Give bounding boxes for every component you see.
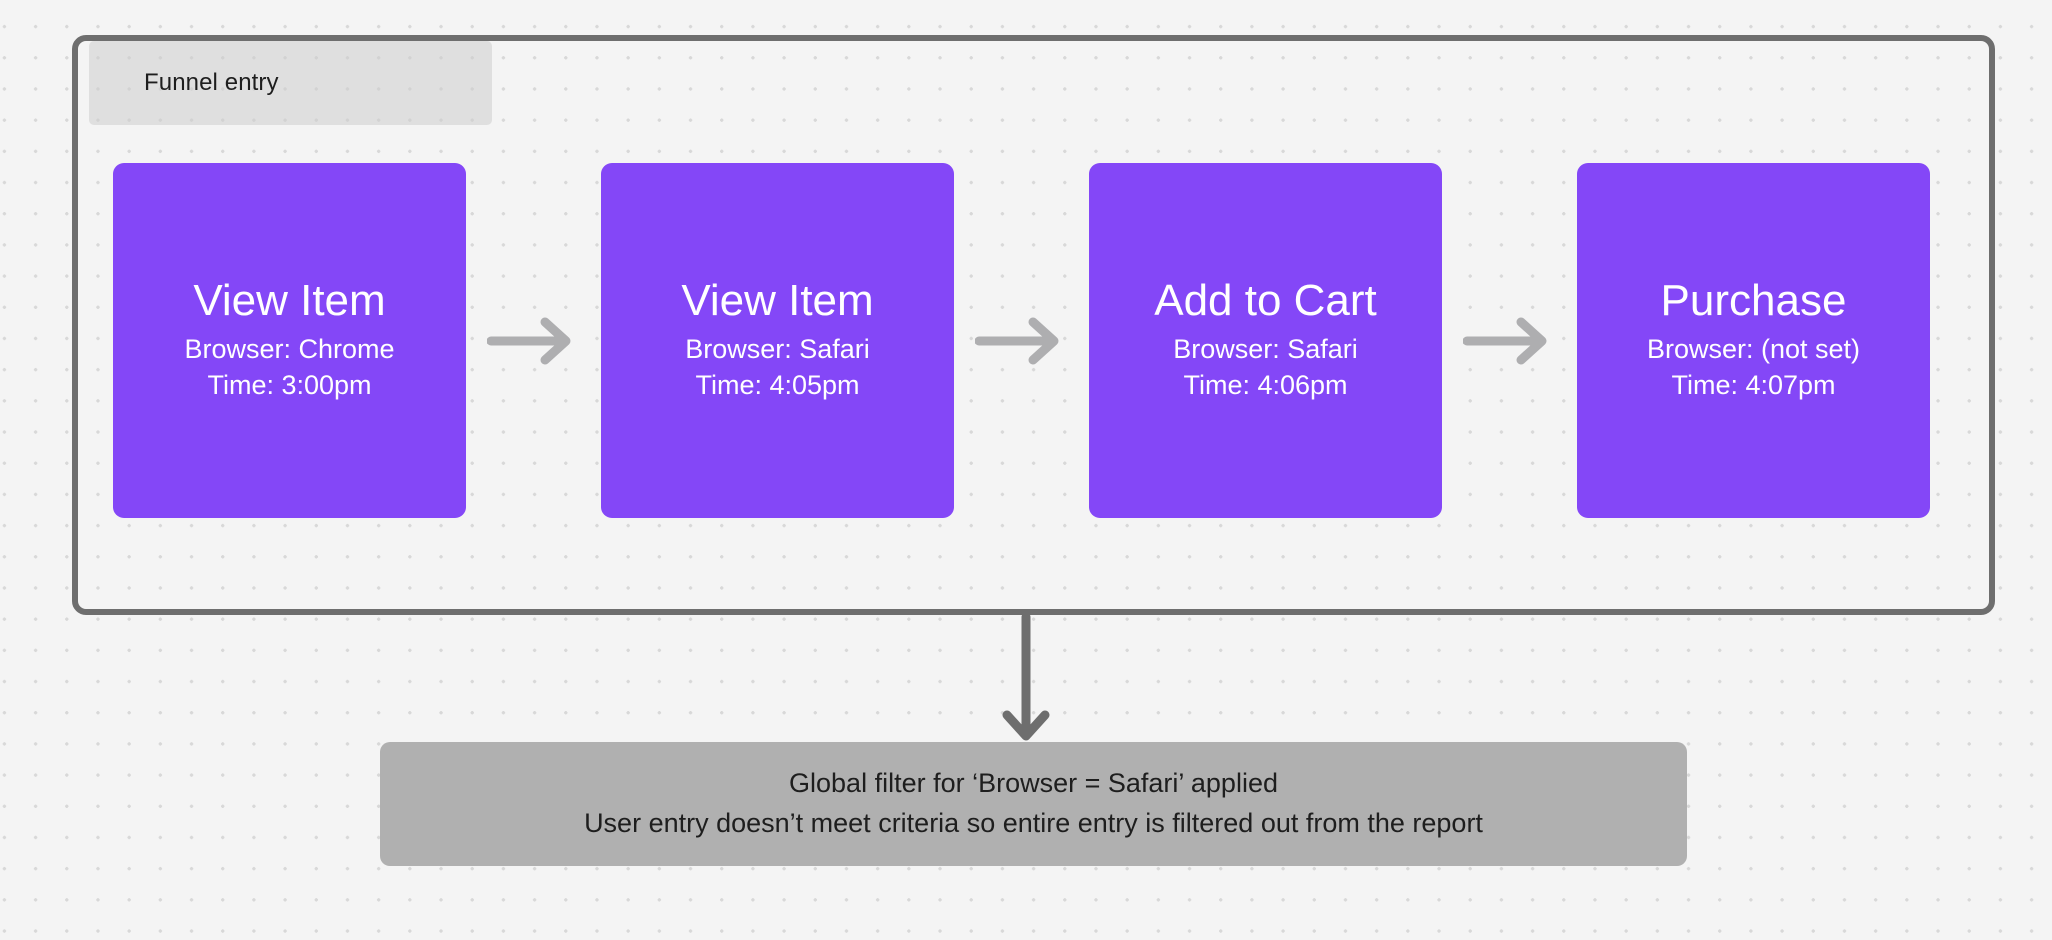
step-browser: Browser: Safari	[685, 331, 870, 367]
step-title: View Item	[193, 278, 385, 325]
step-browser: Browser: Chrome	[184, 331, 394, 367]
diagram-canvas: Funnel entry View Item Browser: Chrome T…	[0, 0, 2052, 940]
filter-callout-box: Global filter for ‘Browser = Safari’ app…	[380, 742, 1687, 866]
funnel-entry-label-text: Funnel entry	[144, 69, 279, 97]
funnel-step-card[interactable]: Add to Cart Browser: Safari Time: 4:06pm	[1089, 163, 1442, 518]
step-time: Time: 4:07pm	[1671, 367, 1835, 403]
funnel-step-card[interactable]: Purchase Browser: (not set) Time: 4:07pm	[1577, 163, 1930, 518]
funnel-step-card[interactable]: View Item Browser: Safari Time: 4:05pm	[601, 163, 954, 518]
step-time: Time: 3:00pm	[207, 367, 371, 403]
arrow-right-icon	[487, 311, 581, 371]
step-browser: Browser: Safari	[1173, 331, 1358, 367]
funnel-entry-label: Funnel entry	[89, 41, 492, 125]
step-time: Time: 4:05pm	[695, 367, 859, 403]
step-browser: Browser: (not set)	[1647, 331, 1860, 367]
callout-line-2: User entry doesn’t meet criteria so enti…	[584, 804, 1483, 844]
funnel-step-card[interactable]: View Item Browser: Chrome Time: 3:00pm	[113, 163, 466, 518]
step-title: View Item	[681, 278, 873, 325]
funnel-steps-row: View Item Browser: Chrome Time: 3:00pm V…	[113, 163, 1930, 518]
step-time: Time: 4:06pm	[1183, 367, 1347, 403]
callout-line-1: Global filter for ‘Browser = Safari’ app…	[789, 764, 1278, 804]
arrow-right-icon	[975, 311, 1069, 371]
arrow-down-icon	[1000, 615, 1052, 742]
arrow-right-icon	[1463, 311, 1557, 371]
step-title: Purchase	[1661, 278, 1847, 325]
step-title: Add to Cart	[1154, 278, 1377, 325]
